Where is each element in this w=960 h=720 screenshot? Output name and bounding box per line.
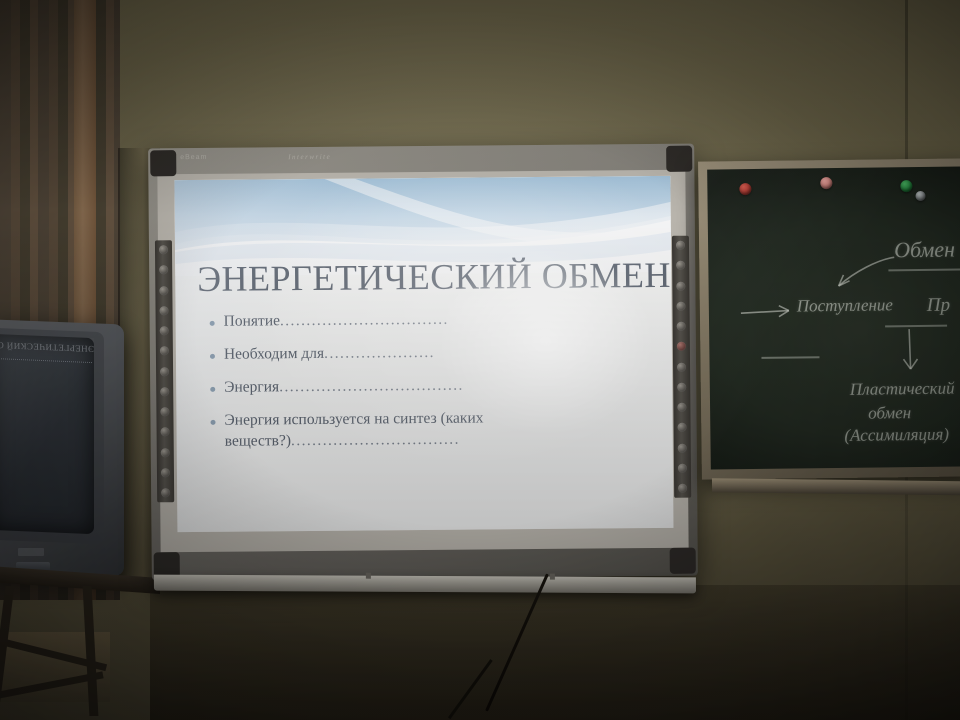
bullet-text: Энергия.................................… — [224, 376, 464, 398]
rail-button[interactable] — [677, 382, 686, 391]
rail-button[interactable] — [676, 281, 685, 290]
rail-button[interactable] — [160, 346, 169, 355]
tray-notch — [550, 574, 555, 580]
magnet-red[interactable] — [739, 183, 751, 195]
magnet-pink[interactable] — [820, 177, 832, 189]
chalk-underline — [888, 268, 960, 271]
rail-button[interactable] — [161, 468, 170, 477]
slide-bullet-list: Понятие................................ … — [210, 308, 651, 465]
whiteboard-left-button-rail[interactable] — [155, 240, 174, 502]
rail-button[interactable] — [677, 403, 686, 412]
chalkboard[interactable]: Обмен Поступление Пр — [698, 158, 960, 479]
list-item: Понятие................................ — [210, 308, 650, 332]
bullet-dot-icon — [210, 354, 215, 359]
chalk-note-obmen2: обмен — [868, 403, 911, 424]
whiteboard-brand-right: Interwrite — [288, 153, 331, 161]
whiteboard-brand-left: eBeam — [180, 154, 207, 161]
rail-button[interactable] — [678, 484, 687, 493]
wall-lower-band — [150, 585, 960, 720]
rail-button[interactable] — [676, 301, 685, 310]
chalk-arrow-down-icon — [897, 327, 924, 377]
chalkboard-surface[interactable]: Обмен Поступление Пр — [707, 166, 960, 469]
bullet-text: Необходим для..................... — [224, 343, 435, 365]
chalk-note-obmen: Обмен — [894, 237, 955, 264]
rail-button[interactable] — [677, 322, 686, 331]
list-item: Необходим для..................... — [210, 341, 650, 365]
list-item: Энергия используется на синтез (каких ве… — [210, 407, 650, 451]
whiteboard-pen-tray[interactable] — [154, 575, 696, 594]
rail-button[interactable] — [160, 387, 169, 396]
rail-button[interactable] — [676, 241, 685, 250]
tv-brand-plate — [18, 548, 44, 556]
magnet-green[interactable] — [900, 180, 912, 192]
rail-button[interactable] — [677, 342, 686, 351]
whiteboard-corner-cap — [666, 146, 692, 172]
list-item: Энергия.................................… — [210, 374, 650, 398]
projected-slide: ЭНЕРГЕТИЧЕСКИЙ ОБМЕН Понятие............… — [174, 176, 673, 532]
rail-button[interactable] — [160, 326, 169, 335]
classroom-scene: ЭНЕРГЕТИЧЕСКИЙ ОБМЕН eBeam Interwrite — [0, 0, 960, 720]
bullet-dot-icon — [210, 321, 215, 326]
interactive-whiteboard[interactable]: eBeam Interwrite — [148, 144, 698, 581]
rail-button[interactable] — [160, 407, 169, 416]
tv-stand — [0, 572, 170, 720]
magnet-gray[interactable] — [915, 191, 925, 201]
rail-button[interactable] — [160, 367, 169, 376]
whiteboard-right-button-rail[interactable] — [672, 236, 691, 498]
slide-title: ЭНЕРГЕТИЧЕСКИЙ ОБМЕН — [197, 254, 671, 300]
rail-button[interactable] — [159, 245, 168, 254]
chalk-note-assimilyaciya: (Ассимиляция) — [844, 425, 949, 446]
chalk-underline — [761, 356, 819, 358]
chalk-note-plasticheskiy: Пластический — [850, 379, 955, 400]
rail-button[interactable] — [676, 261, 685, 270]
bullet-dot-icon — [210, 387, 215, 392]
rail-button[interactable] — [161, 488, 170, 497]
bullet-text: Понятие................................ — [224, 310, 449, 332]
tray-notch — [366, 573, 371, 579]
bullet-text: Энергия используется на синтез (каких ве… — [224, 407, 650, 451]
chalk-note-postuplenie: Поступление — [797, 295, 893, 316]
rail-button[interactable] — [678, 443, 687, 452]
rail-button[interactable] — [161, 427, 170, 436]
whiteboard-corner-cap — [670, 548, 696, 574]
rail-button[interactable] — [159, 286, 168, 295]
bullet-dot-icon — [211, 420, 216, 425]
chalk-arrow-right-icon — [739, 300, 799, 321]
chalk-arrow-up-right-icon — [832, 253, 898, 294]
rail-button[interactable] — [160, 306, 169, 315]
tv-screen-glare — [0, 334, 94, 534]
chalk-bracket-line — [885, 325, 947, 327]
rail-button[interactable] — [678, 423, 687, 432]
rail-button[interactable] — [161, 448, 170, 457]
rail-button[interactable] — [159, 265, 168, 274]
rail-button[interactable] — [677, 362, 686, 371]
rail-button[interactable] — [678, 463, 687, 472]
chalk-note-pr: Пр — [927, 295, 951, 317]
whiteboard-corner-cap — [150, 150, 176, 176]
